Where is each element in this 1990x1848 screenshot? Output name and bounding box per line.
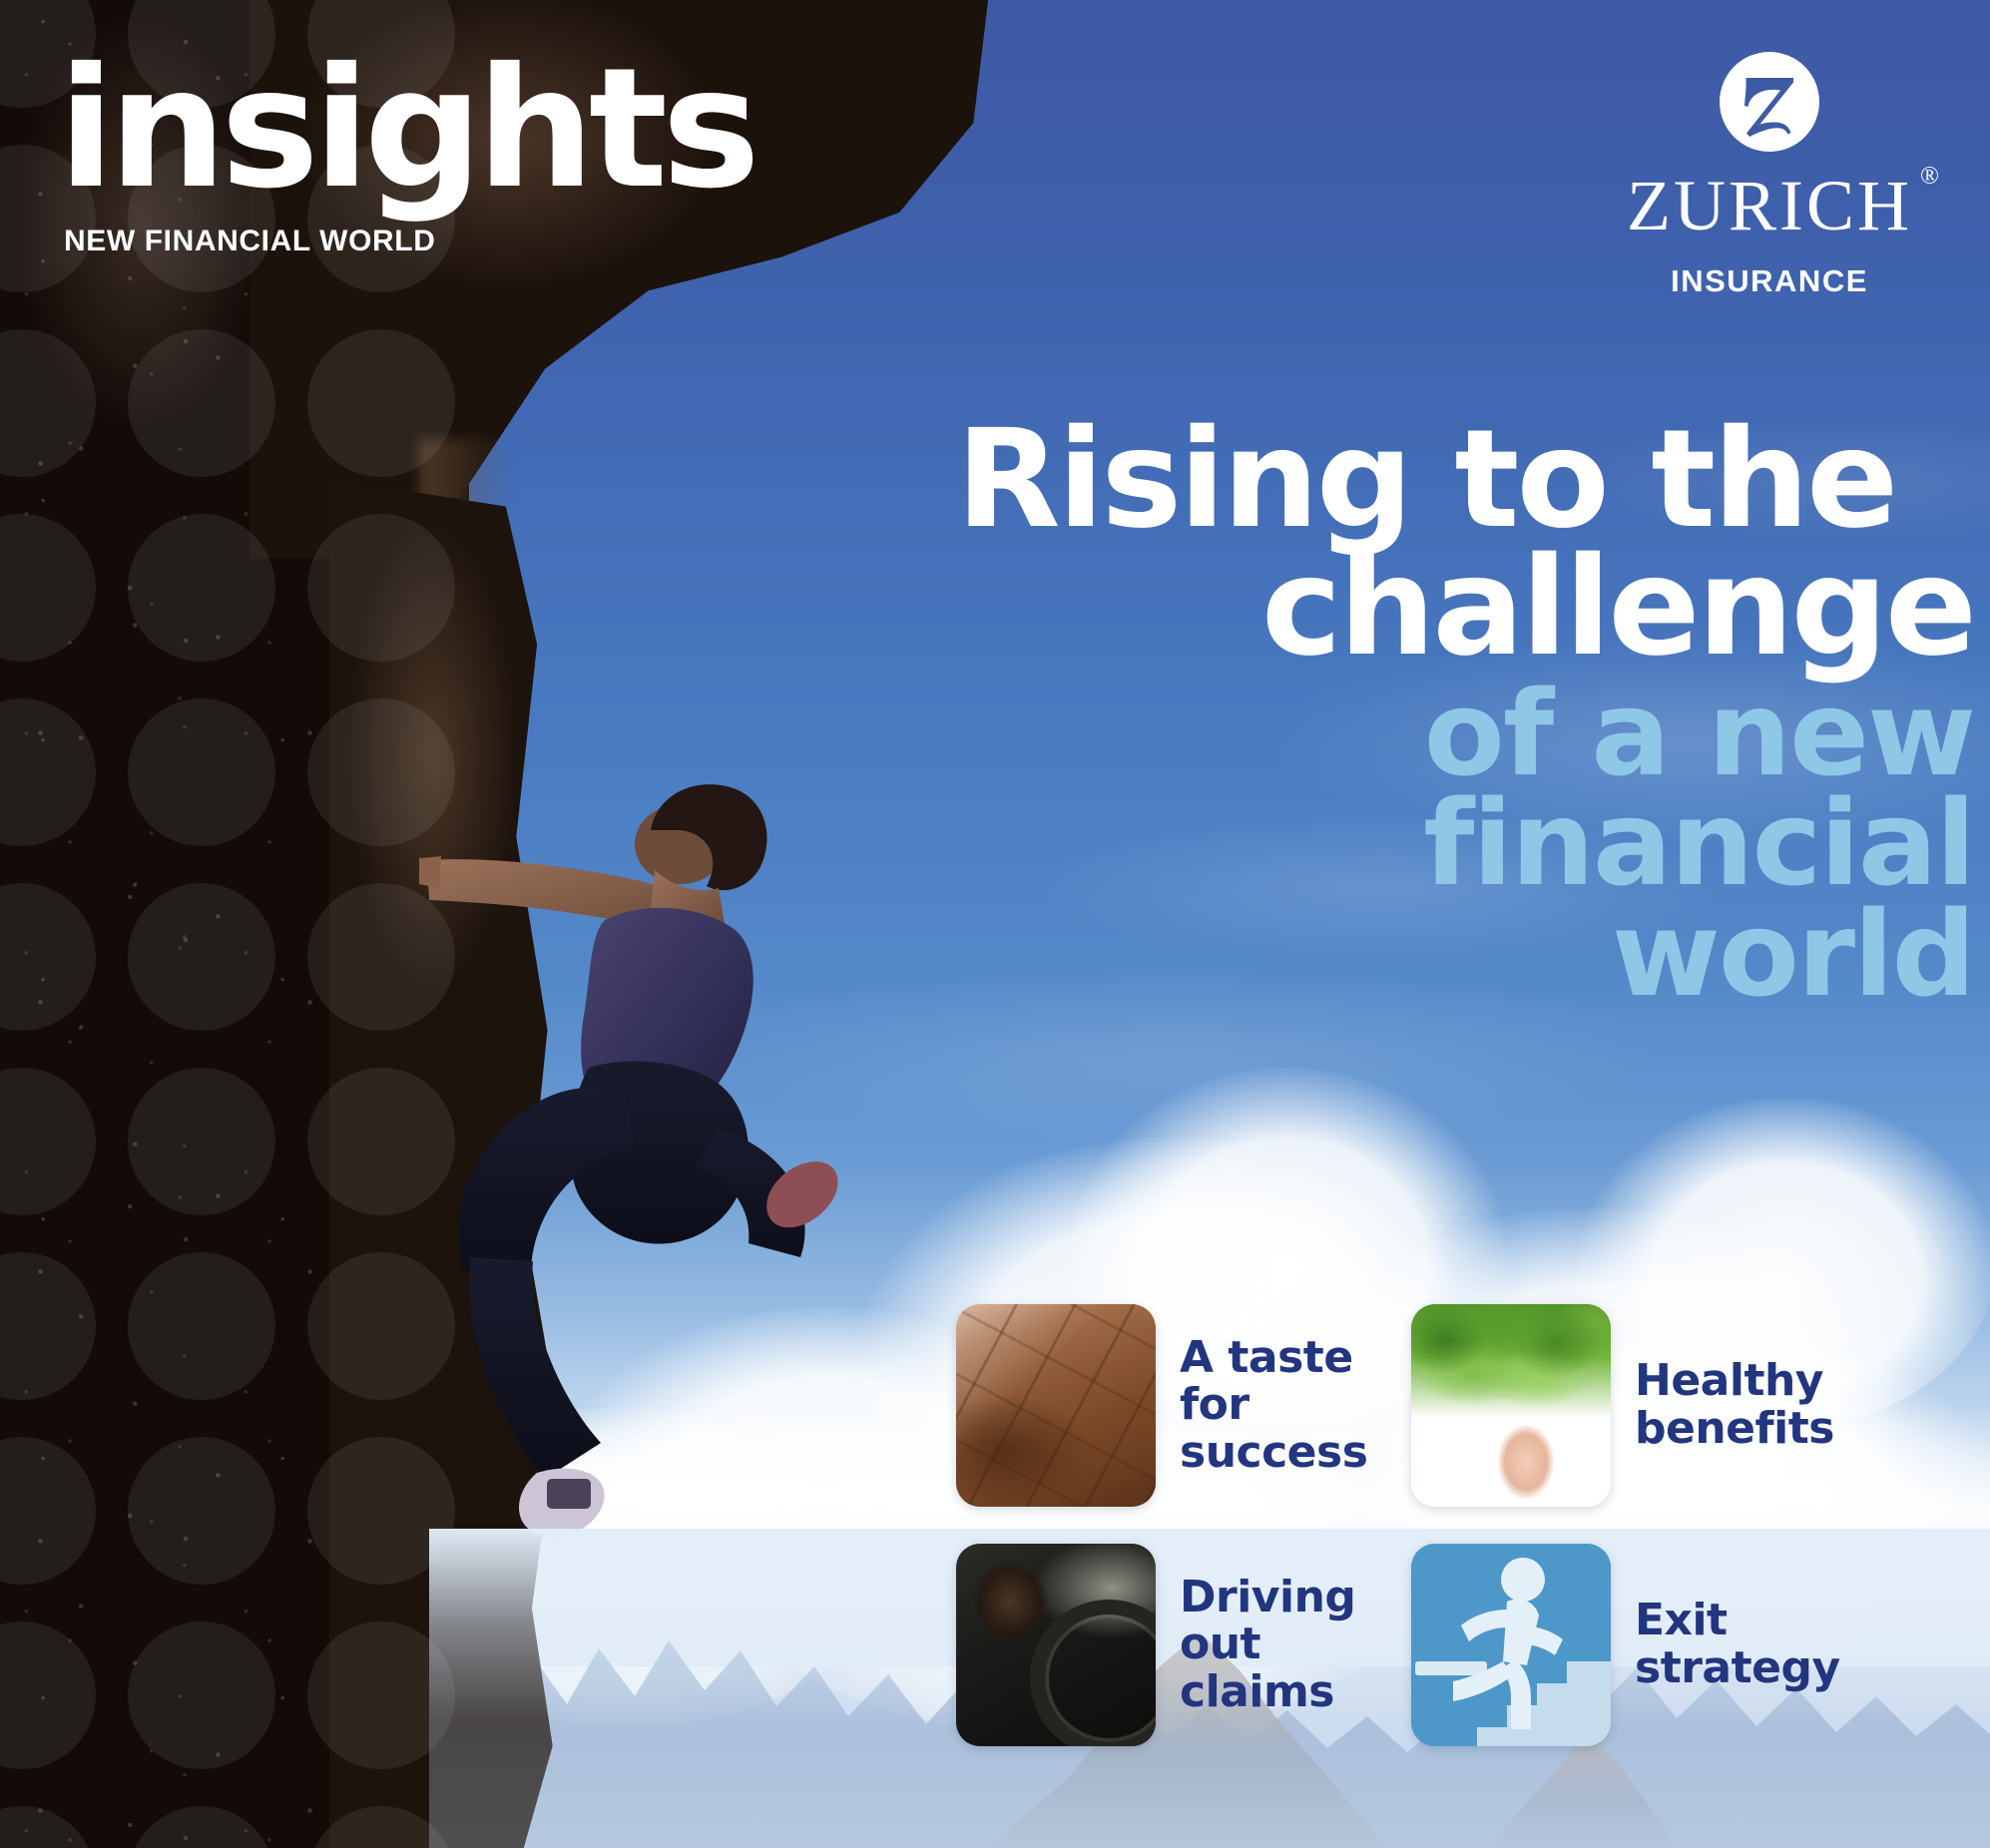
teaser-label: Driving out claims (1180, 1574, 1355, 1716)
zurich-z-icon (1720, 52, 1819, 152)
magazine-title: insights (58, 50, 754, 209)
chocolate-bars-thumbnail[interactable] (956, 1304, 1156, 1507)
headline-sub-3: world (956, 897, 1974, 1011)
magazine-cover: insights NEW FINANCIAL WORLD ZURICH ® IN… (0, 0, 1990, 1848)
teaser-label-line: A taste (1180, 1334, 1367, 1382)
cover-teasers: A taste for success Healthy benefits Dri… (956, 1289, 1964, 1760)
registered-trademark-icon: ® (1920, 164, 1942, 189)
teaser-item[interactable]: Exit strategy (1411, 1529, 1866, 1760)
rock-climber-figure (419, 738, 838, 1617)
teaser-item[interactable]: Driving out claims (956, 1529, 1411, 1760)
teaser-label: Healthy benefits (1635, 1357, 1834, 1452)
exit-sign-thumbnail[interactable] (1411, 1544, 1611, 1746)
teaser-label-line: success (1180, 1429, 1367, 1477)
zurich-wordmark: ZURICH ® (1627, 170, 1912, 241)
teaser-item[interactable]: A taste for success (956, 1289, 1411, 1521)
teaser-label-line: benefits (1635, 1405, 1834, 1453)
headline-line-1: Rising to the (956, 417, 1974, 545)
climber-silhouette (419, 738, 838, 1617)
teaser-label-line: strategy (1635, 1644, 1840, 1692)
teaser-label-line: claims (1180, 1668, 1355, 1716)
teaser-label: Exit strategy (1635, 1597, 1840, 1691)
running-figure-exit-icon (1411, 1544, 1611, 1746)
headline-sub-2: financial (956, 786, 1974, 900)
teaser-label: A taste for success (1180, 1334, 1367, 1477)
teaser-item[interactable]: Healthy benefits (1411, 1289, 1866, 1521)
zurich-logo[interactable]: ZURICH ® INSURANCE (1615, 52, 1924, 299)
teaser-label-line: Driving (1180, 1574, 1355, 1621)
zurich-division: INSURANCE (1615, 263, 1924, 299)
teaser-label-line: for (1180, 1381, 1367, 1429)
teaser-label-line: Healthy (1635, 1357, 1834, 1405)
driver-thumbnail[interactable] (956, 1544, 1156, 1746)
magazine-tagline: NEW FINANCIAL WORLD (64, 225, 754, 258)
teaser-label-line: Exit (1635, 1597, 1840, 1644)
masthead: insights NEW FINANCIAL WORLD (58, 50, 754, 258)
headline-line-2: challenge (956, 545, 1974, 673)
lettuce-thumbnail[interactable] (1411, 1304, 1611, 1507)
headline-sub-1: of a new (956, 677, 1974, 790)
zurich-name: ZURICH (1627, 166, 1912, 245)
teaser-label-line: out (1180, 1620, 1355, 1668)
cover-headline: Rising to the challenge of a new financi… (956, 417, 1974, 1011)
